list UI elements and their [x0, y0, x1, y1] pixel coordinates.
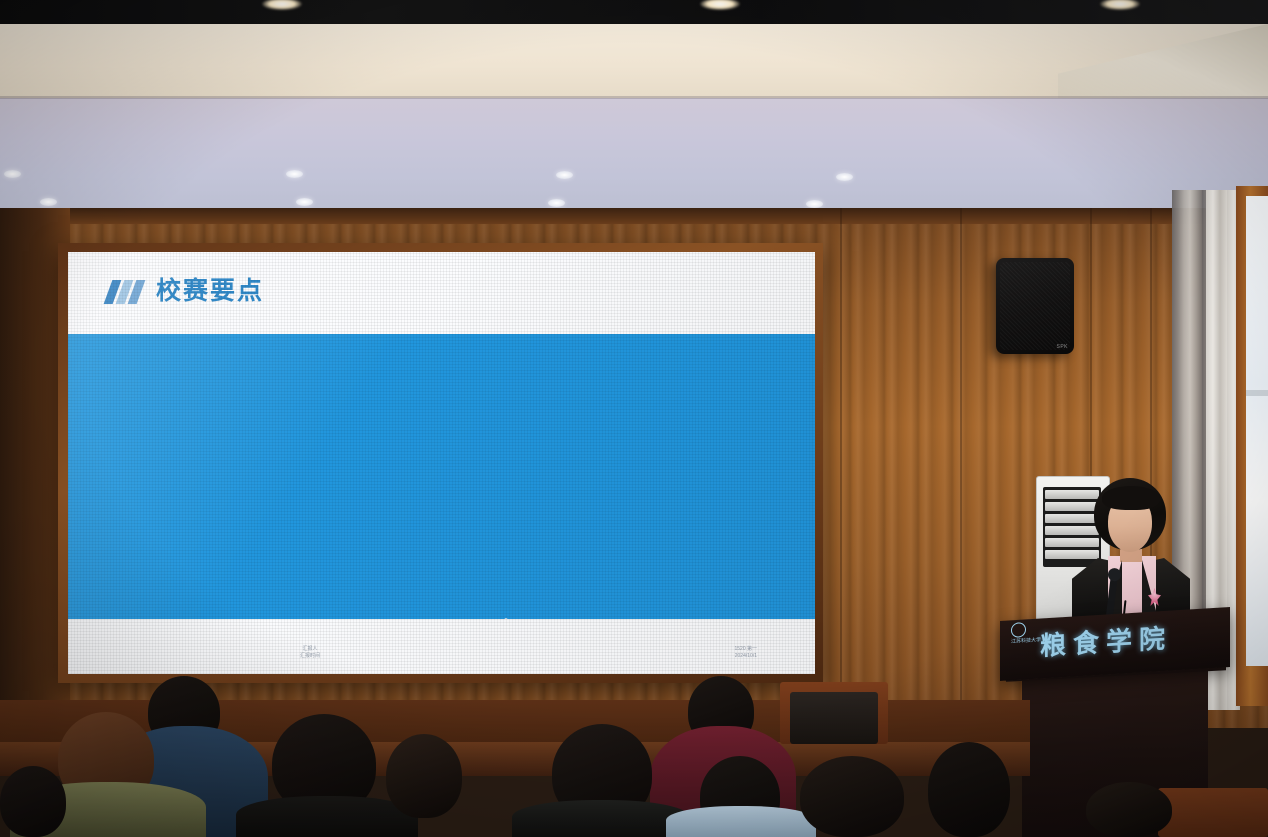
window-sash-bar — [1246, 390, 1268, 396]
photo-scene: SPK 校赛要点 课程和赛道选择 省级或以上一流课程、 选择赛道（6+1个） — [0, 0, 1268, 837]
speaker-brand-label: SPK — [1056, 344, 1068, 350]
footer-right-line-1: 1520 第一 — [734, 646, 757, 653]
wall-top-trim — [0, 208, 1268, 224]
wall-speaker-icon: SPK — [996, 258, 1074, 354]
audience-head — [0, 766, 66, 837]
slide-body — [68, 334, 815, 619]
ceiling-panel — [0, 98, 1268, 210]
audience-head — [928, 742, 1010, 837]
slide: 校赛要点 课程和赛道选择 省级或以上一流课程、 选择赛道（6+1个） 团队成果 … — [68, 252, 815, 674]
ceiling-dark-band — [0, 0, 1268, 26]
slide-footer-left: 汇报人 汇报时间 — [300, 646, 320, 660]
audience-shoulders — [236, 796, 418, 837]
slide-header: 校赛要点 — [68, 252, 815, 334]
chair-seatback — [790, 692, 878, 744]
university-logo: 江苏科技大学 — [1011, 621, 1041, 645]
window-glass — [1246, 196, 1268, 666]
footer-left-line-2: 汇报时间 — [300, 653, 320, 660]
audience-head — [800, 756, 904, 837]
slide-footer-right: 1520 第一 2024/10/1 — [734, 646, 757, 660]
chair — [1158, 788, 1268, 837]
slide-bars-icon — [108, 280, 141, 304]
slide-footer: 汇报人 汇报时间 1520 第一 2024/10/1 — [68, 619, 815, 674]
footer-right-line-2: 2024/10/1 — [734, 653, 757, 660]
audience-shoulders — [666, 806, 816, 837]
slide-title: 校赛要点 — [156, 276, 264, 306]
audience-head — [1086, 782, 1172, 837]
audience-head — [386, 734, 462, 818]
ceiling-edge-line — [0, 96, 1268, 99]
audience-shoulders — [512, 800, 690, 837]
projection-screen: 校赛要点 课程和赛道选择 省级或以上一流课程、 选择赛道（6+1个） 团队成果 … — [68, 252, 815, 674]
footer-left-line-1: 汇报人 — [300, 646, 320, 653]
